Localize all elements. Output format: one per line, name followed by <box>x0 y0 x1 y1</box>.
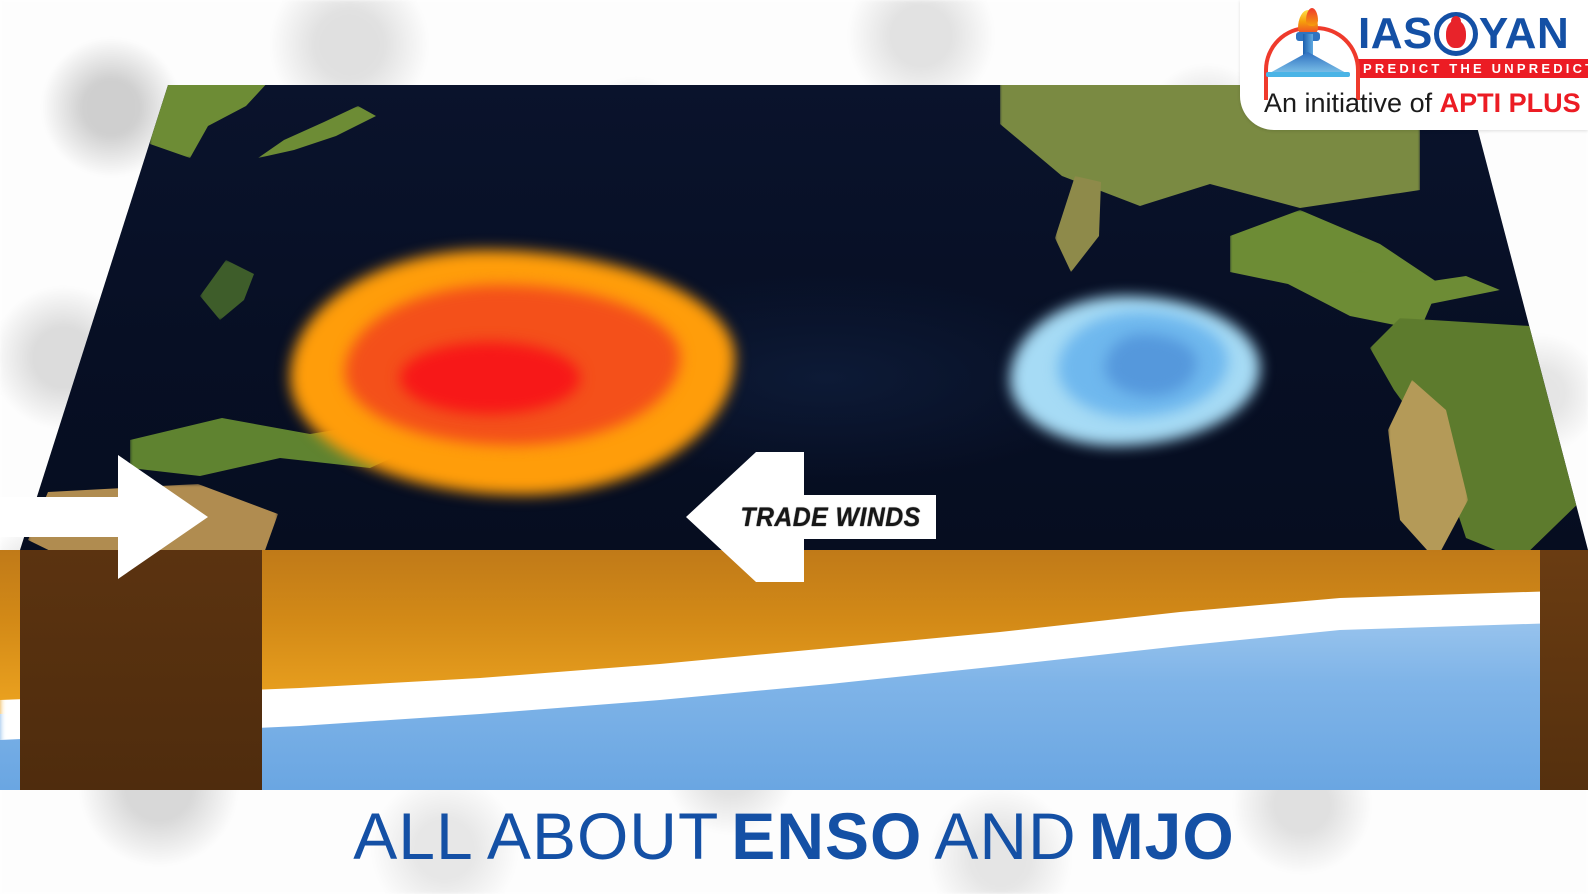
block-left-wall <box>20 550 262 790</box>
trade-winds-label: TRADE WINDS <box>736 498 925 536</box>
logo-wordmark-block: IAS YAN PREDICT THE UNPREDICTABLE <box>1358 12 1588 78</box>
trade-winds-arrow-icon: TRADE WINDS <box>686 452 936 582</box>
wordmark-ias: IAS <box>1358 12 1433 56</box>
block-right-wall <box>1540 550 1588 790</box>
logo-tagline: PREDICT THE UNPREDICTABLE <box>1358 59 1588 78</box>
wordmark-yan: YAN <box>1479 12 1569 56</box>
torch-and-book-emblem-icon <box>1262 8 1354 82</box>
initiative-prefix: An initiative of <box>1264 88 1440 118</box>
logo-wordmark: IAS YAN <box>1358 12 1588 56</box>
logo-row: IAS YAN PREDICT THE UNPREDICTABLE <box>1262 8 1588 82</box>
initiative-brand: APTI PLUS <box>1440 88 1581 118</box>
book-base-icon <box>1266 72 1350 77</box>
iasgyan-logo-badge[interactable]: IAS YAN PREDICT THE UNPREDICTABLE An ini… <box>1240 0 1588 130</box>
title-part-mjo: MJO <box>1089 798 1235 874</box>
title-part-enso: ENSO <box>731 798 922 874</box>
title-part-1: ALL ABOUT <box>353 798 719 874</box>
enso-diagram: TRADE WINDS <box>0 80 1588 790</box>
initiative-line: An initiative of APTI PLUS <box>1264 88 1581 119</box>
warm-pool-core <box>400 342 580 414</box>
page-title: ALL ABOUT ENSO AND MJO <box>0 788 1588 884</box>
figure-body-icon <box>1446 20 1466 48</box>
flame-inner-icon <box>1306 8 1318 26</box>
title-part-and: AND <box>934 798 1076 874</box>
meditating-figure-icon <box>1434 12 1478 56</box>
